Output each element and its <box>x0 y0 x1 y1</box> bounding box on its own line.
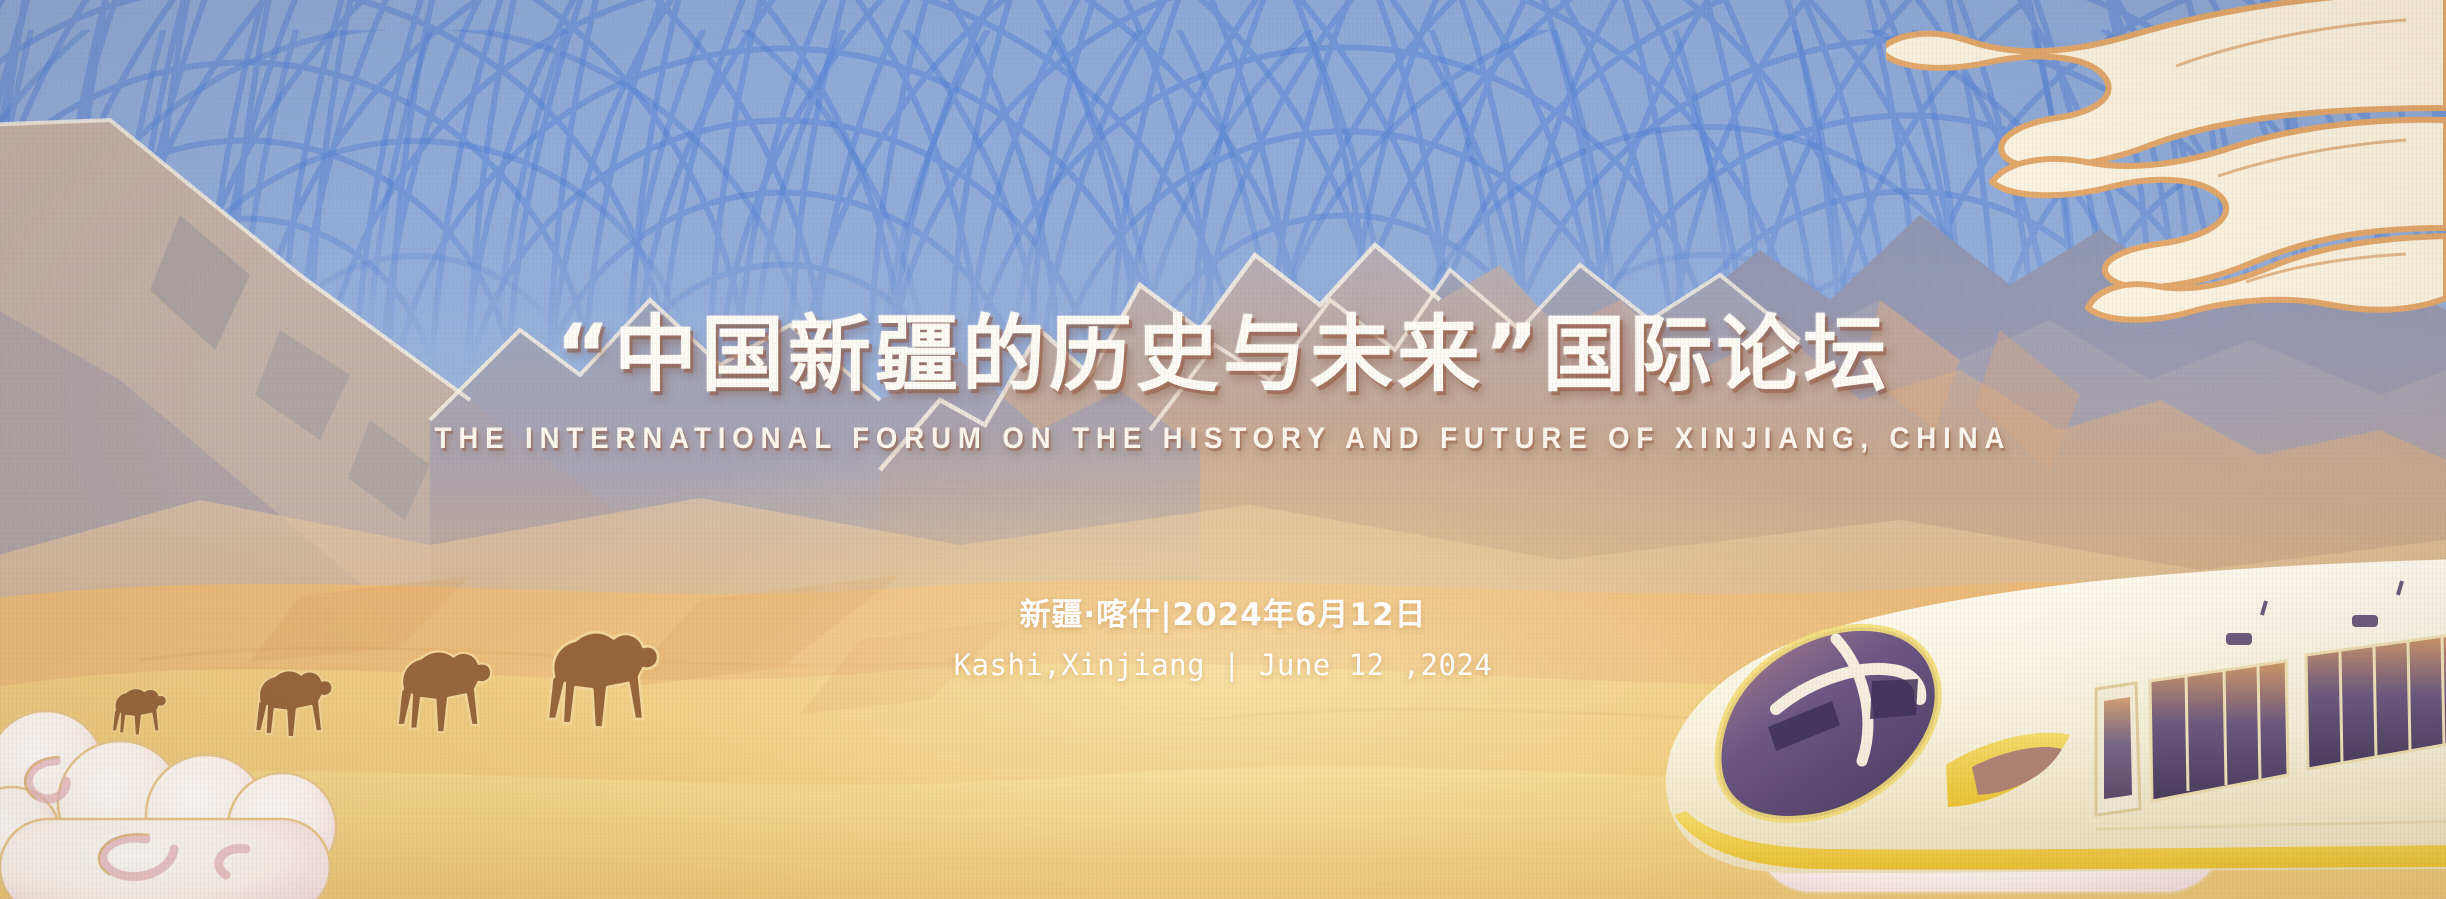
camel-4-icon <box>548 632 658 727</box>
forum-banner: “中国新疆的历史与未来”国际论坛 THE INTERNATIONAL FORUM… <box>0 0 2446 899</box>
auspicious-cloud-left-icon <box>0 699 440 899</box>
ribbon-clouds-icon <box>1886 0 2446 330</box>
high-speed-train-icon <box>1626 529 2446 899</box>
